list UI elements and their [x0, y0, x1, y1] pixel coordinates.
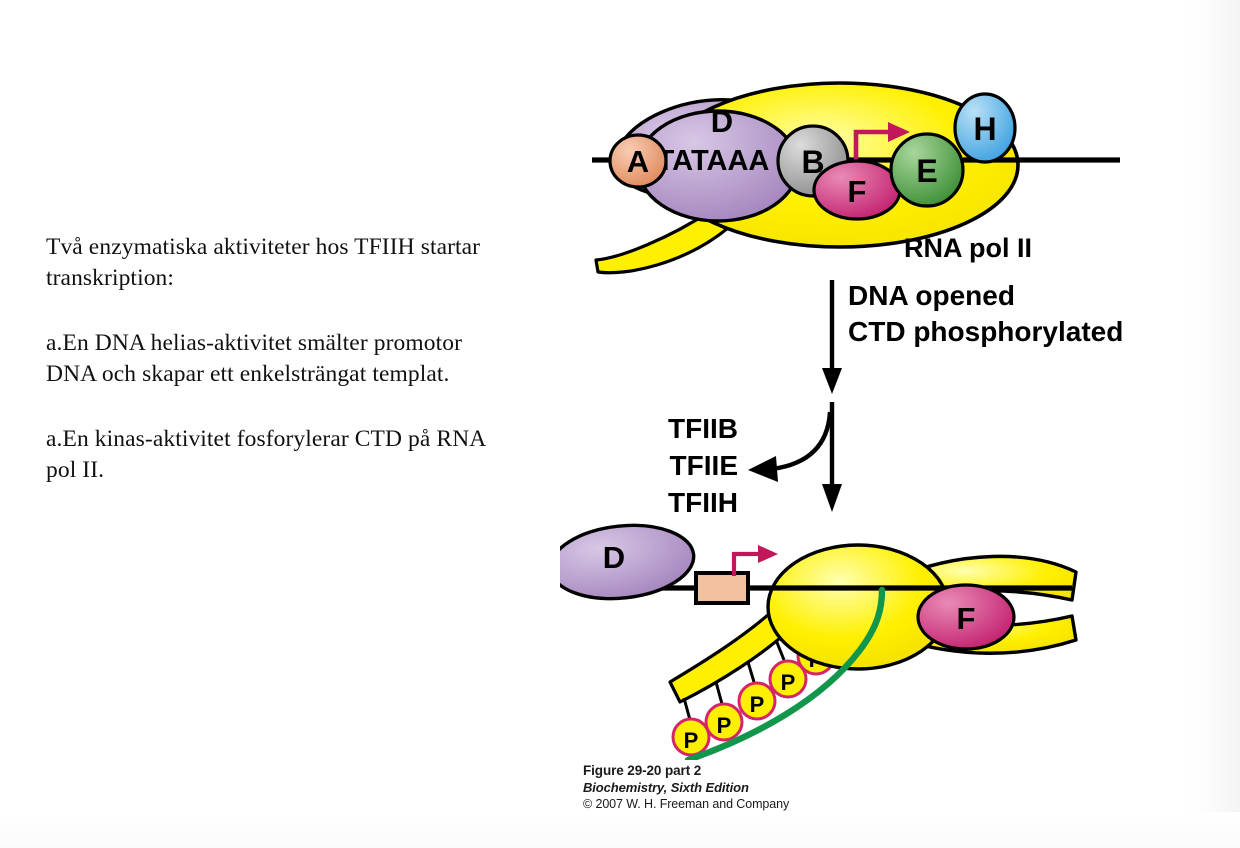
bottom-panel: P P P P P D	[560, 519, 1076, 760]
arrow-dna-opened	[822, 280, 842, 394]
rna-pol-ii-label: RNA pol II	[904, 233, 1032, 263]
caption-copyright: © 2007 W. H. Freeman and Company	[583, 796, 913, 813]
tata-box	[696, 573, 748, 603]
arrow-factor-release	[822, 402, 842, 512]
slide-canvas: Två enzymatiska aktiviteter hos TFIIH st…	[0, 0, 1240, 848]
slide-bottom-edge-shading	[0, 812, 1240, 848]
phosphate-label: P	[781, 670, 796, 695]
tfiia-label: A	[627, 144, 649, 179]
released-factor-tfiie: TFIIE	[670, 450, 738, 481]
phosphate-label: P	[717, 713, 732, 738]
slide-body-text: Två enzymatiska aktiviteter hos TFIIH st…	[46, 232, 516, 486]
caption-book-title: Biochemistry, Sixth Edition	[583, 779, 913, 796]
transcription-figure: TATAAA A D B F E H RNA pol	[560, 60, 1180, 760]
tfiif-label: F	[848, 174, 867, 209]
promoter-sequence-label: TATAAA	[657, 145, 770, 177]
phosphate-label: P	[750, 692, 765, 717]
tfiid-blob-bottom	[560, 519, 697, 606]
body-paragraph-intro: Två enzymatiska aktiviteter hos TFIIH st…	[46, 232, 516, 294]
released-factor-tfiib: TFIIB	[668, 413, 738, 444]
tfiid-label: D	[711, 104, 733, 139]
phosphate-label: P	[684, 728, 699, 753]
tfiih-label: H	[973, 111, 996, 147]
tfiif-label-bottom: F	[957, 601, 976, 636]
arrow-released-branch	[748, 412, 830, 482]
tfiie-label: E	[916, 153, 937, 189]
caption-figure-number: Figure 29-20 part 2	[583, 762, 913, 779]
tfiid-label-bottom: D	[603, 540, 625, 575]
body-paragraph-item-a2: a.En kinas-aktivitet fosforylerar CTD på…	[46, 424, 516, 486]
step-line-2: CTD phosphorylated	[848, 316, 1123, 347]
transition-panel: DNA opened CTD phosphorylated TFIIB TFII…	[668, 280, 1123, 518]
slide-right-edge-shading	[1180, 0, 1240, 848]
released-factor-tfiih: TFIIH	[668, 487, 738, 518]
step-line-1: DNA opened	[848, 280, 1015, 311]
body-paragraph-item-a1: a.En DNA helias-aktivitet smälter promot…	[46, 328, 516, 390]
top-panel: TATAAA A D B F E H RNA pol	[592, 83, 1120, 273]
figure-caption: Figure 29-20 part 2 Biochemistry, Sixth …	[583, 762, 913, 813]
